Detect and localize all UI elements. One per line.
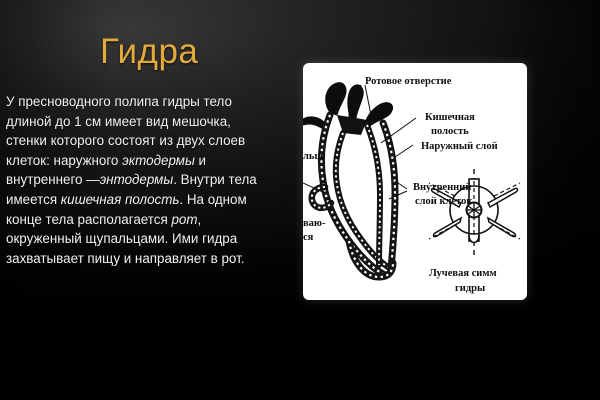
label-inner-cell-layer-line2: слой клеток bbox=[415, 196, 473, 207]
label-radial-symmetry-line1: Лучевая симм bbox=[429, 268, 497, 279]
tentacle-upper-mid bbox=[348, 85, 363, 118]
body-segment-gastric-cavity: кишечная полость bbox=[61, 192, 180, 207]
page-title: Гидра bbox=[100, 34, 198, 71]
hydra-anatomy-figure: Ротовое отверстие Кишечная полость Наруж… bbox=[303, 63, 527, 300]
label-budding-clipped-line2: ся bbox=[303, 232, 314, 243]
label-gastric-cavity-line1: Кишечная bbox=[425, 112, 475, 123]
label-gastric-cavity-line2: полость bbox=[431, 126, 469, 137]
body-wall-outer-right bbox=[383, 123, 395, 269]
leader-mouth-2 bbox=[365, 85, 371, 115]
label-budding-clipped-line1: ваю- bbox=[303, 218, 326, 229]
hydra-body-illustration bbox=[303, 83, 395, 277]
tentacle-upper-right bbox=[366, 103, 393, 126]
symmetry-tentacle-dr bbox=[488, 218, 515, 237]
slide-canvas: Гидра У пресноводного полипа гидры тело … bbox=[0, 0, 600, 400]
hydra-diagram-svg: Ротовое отверстие Кишечная полость Наруж… bbox=[303, 63, 527, 300]
tentacle-upper-left bbox=[326, 83, 346, 115]
label-mouth-opening: Ротовое отверстие bbox=[365, 76, 452, 87]
body-segment-mouth: рот bbox=[171, 212, 197, 227]
body-paragraph: У пресноводного полипа гидры тело длиной… bbox=[6, 92, 274, 268]
symmetry-foot bbox=[469, 235, 479, 243]
leader-outer-layer bbox=[395, 145, 413, 157]
label-radial-symmetry-line2: гидры bbox=[455, 283, 485, 294]
body-segment-ectoderm: эктодермы bbox=[122, 153, 195, 168]
label-outer-layer: Наружный слой bbox=[421, 141, 498, 152]
body-segment-endoderm: энтодермы bbox=[100, 172, 174, 187]
label-tentacle-clipped: льце bbox=[303, 151, 325, 162]
tentacle-left-clipped bbox=[303, 117, 325, 129]
label-inner-cell-layer-line1: Внутренний bbox=[413, 182, 471, 193]
